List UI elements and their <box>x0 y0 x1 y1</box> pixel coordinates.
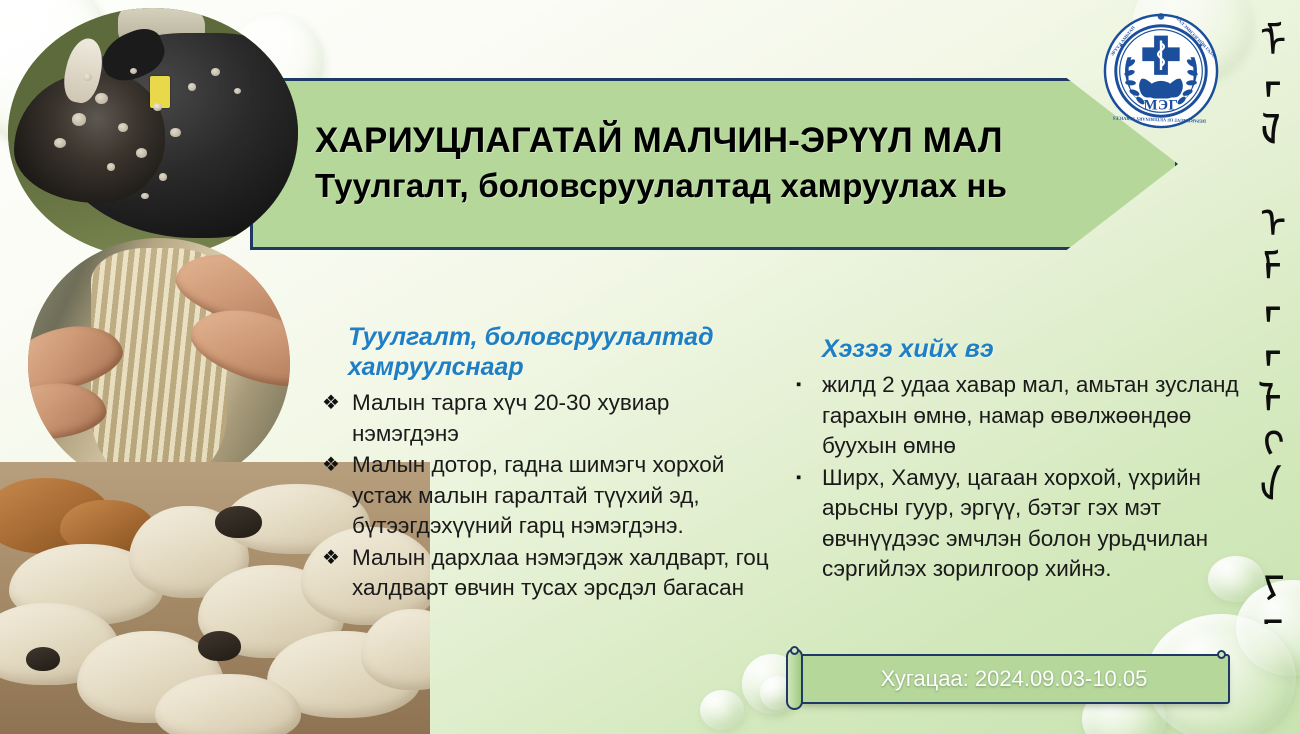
title-line-2: Туулгалт, боловсруулалтад хамруулах нь <box>253 163 1175 209</box>
date-scroll-banner: Хугацаа: 2024.09.03-10.05 <box>786 652 1230 706</box>
list-item: ▪ Ширх, Хамуу, цагаан хорхой, үхрийн арь… <box>788 463 1240 585</box>
title-banner: ХАРИУЦЛАГАТАЙ МАЛЧИН-ЭРҮҮЛ МАЛ Туулгалт,… <box>250 78 1178 250</box>
list-item-text: Малын дархлаа нэмэгдэж халдварт, гоц хал… <box>352 545 769 601</box>
bubble-decoration <box>700 690 744 730</box>
list-item-text: Малын тарга хүч 20-30 хувиар нэмэгдэнэ <box>352 390 669 446</box>
date-text: Хугацаа: 2024.09.03-10.05 <box>881 666 1148 692</box>
scroll-knob-left-icon <box>790 646 799 655</box>
scroll-roll-left-icon <box>786 648 803 710</box>
photo-cow-with-skin-lesions <box>8 8 298 258</box>
photo-skin-mange-lesion <box>28 238 290 490</box>
mongolian-vertical-script: ᠮᠠᠯ ᠡᠮᠨᠡᠯᠭᠡ ᠶᠢᠨ ᠭᠠᠵᠠᠷ <box>1238 18 1296 624</box>
list-item-text: жилд 2 удаа хавар мал, амьтан зусланд га… <box>822 372 1239 458</box>
left-column-heading: Туулгалт, боловсруулалтад хамруулснаар <box>318 322 780 382</box>
diamond-bullet-icon: ❖ <box>322 543 340 573</box>
scroll-knob-right-icon <box>1217 650 1226 659</box>
date-banner-sheet: Хугацаа: 2024.09.03-10.05 <box>798 654 1230 704</box>
left-content-column: Туулгалт, боловсруулалтад хамруулснаар ❖… <box>318 322 780 605</box>
svg-text:МЭГ: МЭГ <box>1144 97 1179 113</box>
slide-canvas: ХАРИУЦЛАГАТАЙ МАЛЧИН-ЭРҮҮЛ МАЛ Туулгалт,… <box>0 0 1300 734</box>
diamond-bullet-icon: ❖ <box>322 450 340 480</box>
right-bullet-list: ▪ жилд 2 удаа хавар мал, амьтан зусланд … <box>788 370 1240 585</box>
square-bullet-icon: ▪ <box>796 370 801 400</box>
list-item-text: Малын дотор, гадна шимэгч хорхой устаж м… <box>352 452 724 538</box>
list-item: ▪ жилд 2 удаа хавар мал, амьтан зусланд … <box>788 370 1240 462</box>
right-column-heading: Хэзээ хийх вэ <box>788 334 1240 364</box>
right-content-column: Хэзээ хийх вэ ▪ жилд 2 удаа хавар мал, а… <box>788 334 1240 586</box>
veterinary-department-logo: МЭГ ЭРҮҮЛ АМЬТАН МАЛ ЭМНЭЛГИЙН ГАЗАР DEP… <box>1102 12 1220 130</box>
list-item: ❖ Малын дархлаа нэмэгдэж халдварт, гоц х… <box>318 543 780 604</box>
square-bullet-icon: ▪ <box>796 463 801 493</box>
title-line-1: ХАРИУЦЛАГАТАЙ МАЛЧИН-ЭРҮҮЛ МАЛ <box>253 119 1175 163</box>
list-item-text: Ширх, Хамуу, цагаан хорхой, үхрийн арьсн… <box>822 465 1208 582</box>
left-bullet-list: ❖ Малын тарга хүч 20-30 хувиар нэмэгдэнэ… <box>318 388 780 604</box>
list-item: ❖ Малын тарга хүч 20-30 хувиар нэмэгдэнэ <box>318 388 780 449</box>
diamond-bullet-icon: ❖ <box>322 388 340 418</box>
list-item: ❖ Малын дотор, гадна шимэгч хорхой устаж… <box>318 450 780 542</box>
